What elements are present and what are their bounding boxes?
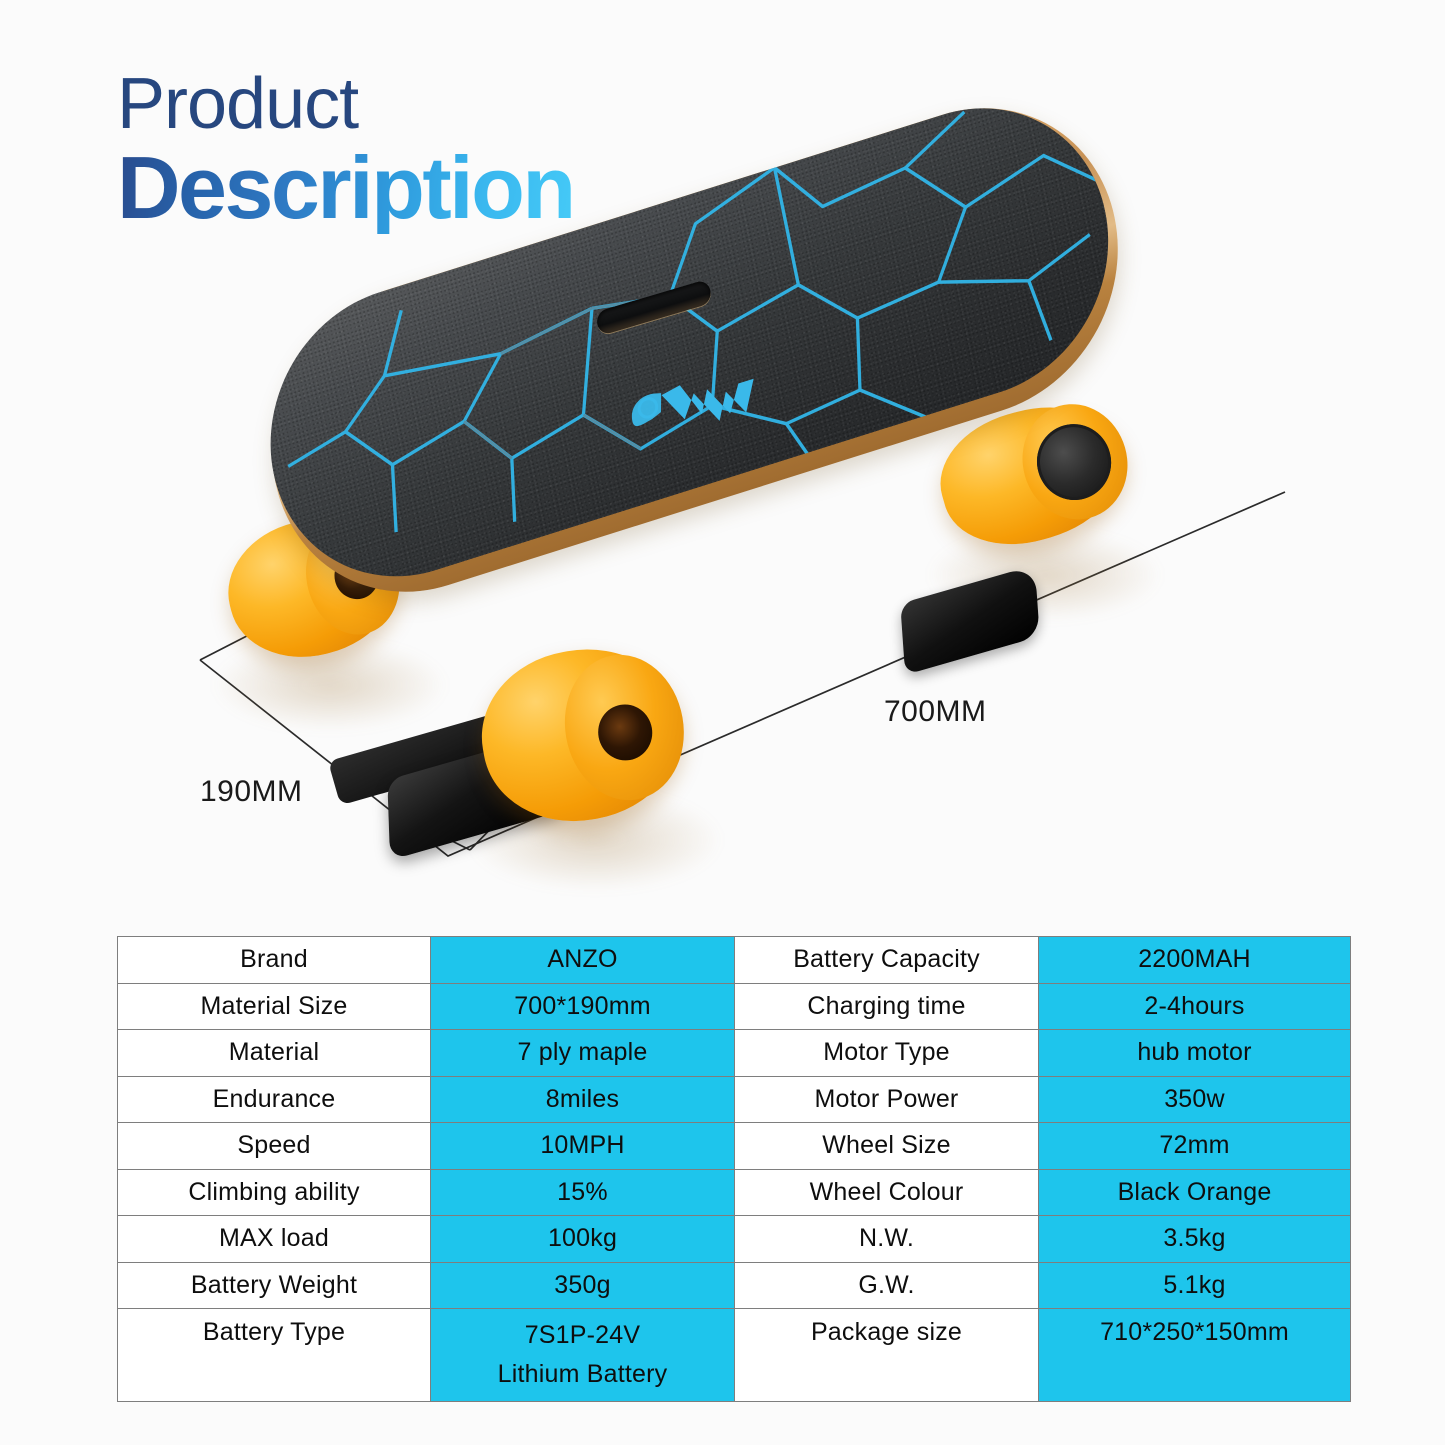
table-row: Material 7 ply maple Motor Type hub moto… — [118, 1030, 1351, 1077]
spec-value: 7 ply maple — [431, 1030, 735, 1077]
table-row: MAX load 100kg N.W. 3.5kg — [118, 1216, 1351, 1263]
spec-value: 100kg — [431, 1216, 735, 1263]
spec-value: 350g — [431, 1262, 735, 1309]
spec-label: Battery Capacity — [735, 937, 1039, 984]
spec-value: 700*190mm — [431, 983, 735, 1030]
table-row: Battery Type 7S1P-24V Lithium Battery Pa… — [118, 1309, 1351, 1402]
spec-label: Endurance — [118, 1076, 431, 1123]
spec-label: Speed — [118, 1123, 431, 1170]
spec-value: 2-4hours — [1039, 983, 1351, 1030]
spec-value: 15% — [431, 1169, 735, 1216]
spec-value: Black Orange — [1039, 1169, 1351, 1216]
front-wheel-shadow — [215, 640, 445, 730]
spec-value: ANZO — [431, 937, 735, 984]
spec-value: 710*250*150mm — [1039, 1309, 1351, 1402]
spec-value: 5.1kg — [1039, 1262, 1351, 1309]
spec-label: Battery Type — [118, 1309, 431, 1402]
table-row: Speed 10MPH Wheel Size 72mm — [118, 1123, 1351, 1170]
table-row: Battery Weight 350g G.W. 5.1kg — [118, 1262, 1351, 1309]
spec-label: N.W. — [735, 1216, 1039, 1263]
specification-table: Brand ANZO Battery Capacity 2200MAH Mate… — [117, 936, 1351, 1402]
product-description-page: Product Description 190MM 700MM — [0, 0, 1445, 1445]
spec-value: 8miles — [431, 1076, 735, 1123]
spec-label-text: Battery Type — [203, 1318, 345, 1346]
spec-label: Package size — [735, 1309, 1039, 1402]
page-title-line1: Product — [117, 68, 574, 140]
spec-label: G.W. — [735, 1262, 1039, 1309]
product-photo-stage: 190MM 700MM — [0, 170, 1445, 930]
spec-value: 10MPH — [431, 1123, 735, 1170]
spec-value-text: 710*250*150mm — [1100, 1318, 1289, 1346]
spec-label: Motor Type — [735, 1030, 1039, 1077]
spec-label: Material Size — [118, 983, 431, 1030]
spec-label: MAX load — [118, 1216, 431, 1263]
skateboard-assembly — [0, 170, 1445, 930]
spec-value: 350w — [1039, 1076, 1351, 1123]
table-row: Brand ANZO Battery Capacity 2200MAH — [118, 937, 1351, 984]
spec-value: 3.5kg — [1039, 1216, 1351, 1263]
spec-value-line2: Lithium Battery — [498, 1355, 668, 1394]
spec-value: 2200MAH — [1039, 937, 1351, 984]
spec-value: hub motor — [1039, 1030, 1351, 1077]
table-row: Endurance 8miles Motor Power 350w — [118, 1076, 1351, 1123]
spec-label: Wheel Size — [735, 1123, 1039, 1170]
spec-label: Wheel Colour — [735, 1169, 1039, 1216]
table-row: Material Size 700*190mm Charging time 2-… — [118, 983, 1351, 1030]
spec-value-line1: 7S1P-24V — [525, 1316, 641, 1355]
spec-value: 7S1P-24V Lithium Battery — [431, 1309, 735, 1402]
spec-label: Charging time — [735, 983, 1039, 1030]
spec-label: Battery Weight — [118, 1262, 431, 1309]
spec-label-text: Package size — [811, 1318, 962, 1346]
spec-value: 72mm — [1039, 1123, 1351, 1170]
spec-label: Climbing ability — [118, 1169, 431, 1216]
spec-label: Motor Power — [735, 1076, 1039, 1123]
spec-label: Material — [118, 1030, 431, 1077]
spec-label: Brand — [118, 937, 431, 984]
table-row: Climbing ability 15% Wheel Colour Black … — [118, 1169, 1351, 1216]
